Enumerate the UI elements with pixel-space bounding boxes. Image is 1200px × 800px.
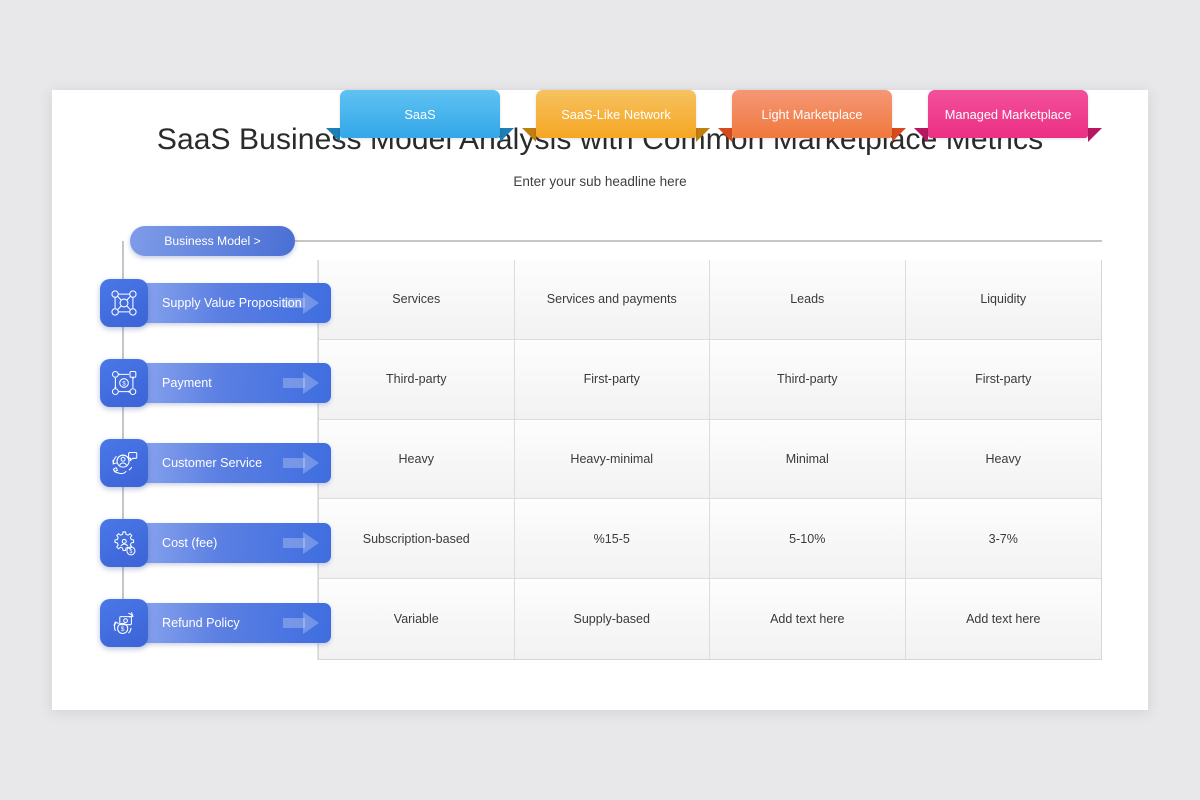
row-label-refund-policy[interactable]: Refund Policy $ — [100, 603, 331, 643]
table-cell: Subscription-based — [319, 499, 515, 579]
table-cell: 3-7% — [906, 499, 1102, 579]
column-tab-managed-marketplace[interactable]: Managed Marketplace — [928, 90, 1088, 138]
arrow-head-icon — [303, 532, 319, 554]
headset-support-icon — [100, 439, 148, 487]
column-tab-label: Managed Marketplace — [928, 90, 1088, 138]
row-label-bar: Supply Value Proposition — [130, 283, 331, 323]
table-cell: %15-5 — [515, 499, 711, 579]
row-label-text: Customer Service — [130, 456, 262, 470]
row-label-payment[interactable]: Payment $ — [100, 363, 331, 403]
table-cell: Minimal — [710, 420, 906, 500]
table-cell: Services and payments — [515, 260, 711, 340]
tab-fold-left — [326, 128, 340, 142]
row-label-text: Supply Value Proposition — [130, 296, 302, 310]
tab-fold-left — [522, 128, 536, 142]
table-cell: Heavy — [906, 420, 1102, 500]
table-cell: Heavy — [319, 420, 515, 500]
metrics-table: Services Services and payments Leads Liq… — [318, 260, 1102, 660]
row-label-bar: Payment — [130, 363, 331, 403]
matrix-diagram: Business Model > SaaS SaaS-Like Network … — [52, 90, 1148, 710]
column-tab-saas-like-network[interactable]: SaaS-Like Network — [536, 90, 696, 138]
row-label-bar: Customer Service — [130, 443, 331, 483]
arrow-head-icon — [303, 452, 319, 474]
business-model-label[interactable]: Business Model > — [130, 226, 295, 256]
arrow-stem — [283, 458, 305, 468]
table-cell: Third-party — [710, 340, 906, 420]
tab-fold-left — [718, 128, 732, 142]
arrow-head-icon — [303, 612, 319, 634]
table-cell: Liquidity — [906, 260, 1102, 340]
row-label-customer-service[interactable]: Customer Service — [100, 443, 331, 483]
table-cell: Services — [319, 260, 515, 340]
tab-fold-right — [1088, 128, 1102, 142]
tab-fold-right — [696, 128, 710, 142]
table-cell: Heavy-minimal — [515, 420, 711, 500]
payment-cycle-icon: $ — [100, 359, 148, 407]
table-cell: First-party — [515, 340, 711, 420]
column-tab-label: Light Marketplace — [732, 90, 892, 138]
row-label-bar: Cost (fee) — [130, 523, 331, 563]
table-cell: Leads — [710, 260, 906, 340]
column-tab-label: SaaS — [340, 90, 500, 138]
tab-fold-left — [914, 128, 928, 142]
table-cell: Variable — [319, 579, 515, 659]
arrow-stem — [283, 618, 305, 628]
table-cell: Third-party — [319, 340, 515, 420]
table-cell: Add text here — [710, 579, 906, 659]
column-tab-light-marketplace[interactable]: Light Marketplace — [732, 90, 892, 138]
refund-money-icon: $ — [100, 599, 148, 647]
tab-fold-right — [500, 128, 514, 142]
row-label-cost-fee[interactable]: Cost (fee) $ — [100, 523, 331, 563]
arrow-stem — [283, 538, 305, 548]
column-tab-label: SaaS-Like Network — [536, 90, 696, 138]
arrow-stem — [283, 378, 305, 388]
table-cell: Add text here — [906, 579, 1102, 659]
arrow-head-icon — [303, 372, 319, 394]
tab-fold-right — [892, 128, 906, 142]
svg-text:$: $ — [129, 549, 132, 555]
network-value-icon — [100, 279, 148, 327]
arrow-head-icon — [303, 292, 319, 314]
table-cell: First-party — [906, 340, 1102, 420]
row-label-supply-value-proposition[interactable]: Supply Value Proposition — [100, 283, 331, 323]
gear-cost-icon: $ — [100, 519, 148, 567]
slide-card: SaaS Business Model Analysis with Common… — [52, 90, 1148, 710]
column-tab-saas[interactable]: SaaS — [340, 90, 500, 138]
table-cell: 5-10% — [710, 499, 906, 579]
svg-text:$: $ — [121, 626, 125, 633]
table-cell: Supply-based — [515, 579, 711, 659]
row-label-bar: Refund Policy — [130, 603, 331, 643]
